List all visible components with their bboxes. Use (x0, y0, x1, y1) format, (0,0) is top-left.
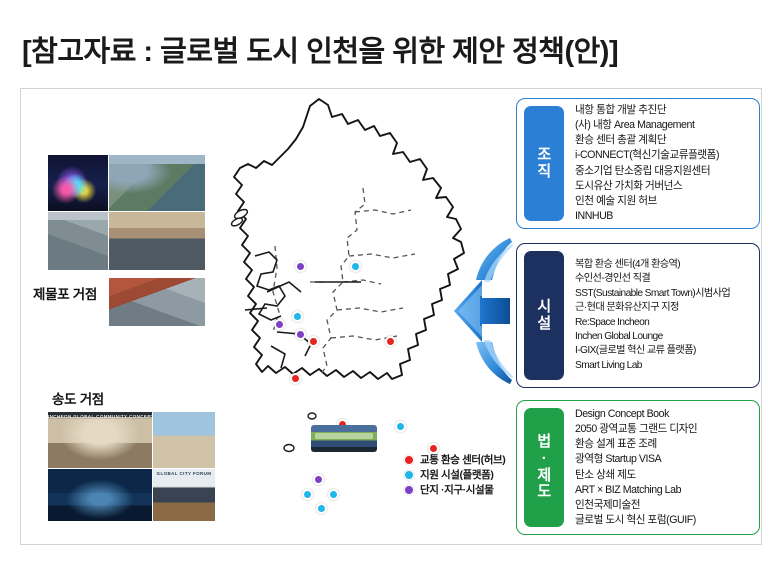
list-item: 탄소 상쇄 제도 (575, 468, 751, 483)
legend-label: 지원 시설(플랫폼) (420, 467, 494, 482)
photo-port-tower (109, 212, 205, 270)
list-item: 내항 통합 개발 추진단 (575, 103, 751, 118)
tab-char: 도 (537, 484, 550, 501)
photo-global-forum: GLOBAL CITY FORUM (153, 469, 215, 521)
list-item: 글로벌 도시 혁신 포럼(GUIF) (575, 513, 751, 528)
map-marker-purple[interactable] (295, 329, 306, 340)
slide-root: [참고자료 : 글로벌 도시 인천을 위한 제안 정책(안)] 제물포 거점 I… (0, 0, 779, 568)
tab-char: 설 (537, 316, 550, 333)
photo-beach-festival (153, 412, 215, 468)
list-item: (사) 내항 Area Management (575, 118, 751, 133)
list-item: 인천 예술 지원 허브 (575, 194, 751, 209)
list-item: Design Concept Book (575, 407, 751, 422)
map-marker-purple[interactable] (313, 474, 324, 485)
tab-char: 시 (537, 299, 550, 316)
category-list-law-system: Design Concept Book 2050 광역교통 그랜드 디자인 환승… (564, 408, 751, 527)
list-item: I-GIX(글로벌 혁신 교류 플랫폼) (575, 344, 751, 358)
list-item: SST(Sustainable Smart Town)시범사업 (575, 287, 751, 301)
legend-dot-purple-icon (404, 485, 414, 495)
map-marker-cyan[interactable] (316, 503, 327, 514)
bus-photo (311, 425, 377, 452)
list-item: INNHUB (575, 209, 751, 224)
tab-char: 법 (537, 434, 550, 451)
legend-row: 단지 ·지구·시설물 (404, 482, 505, 497)
list-item: 환승 센터 총괄 계획단 (575, 133, 751, 148)
photo-night-train (48, 469, 152, 521)
map-marker-cyan[interactable] (302, 489, 313, 500)
list-item: ART × BIZ Matching Lab (575, 483, 751, 498)
map-marker-purple[interactable] (295, 261, 306, 272)
list-item: Smart Living Lab (575, 359, 751, 373)
legend-label: 교통 환승 센터(허브) (420, 452, 505, 467)
category-list-organization: 내항 통합 개발 추진단 (사) 내항 Area Management 환승 센… (564, 106, 751, 221)
cluster-label-songdo: 송도 거점 (52, 388, 104, 408)
map-marker-cyan[interactable] (328, 489, 339, 500)
tab-char: 조 (537, 147, 550, 164)
map-marker-red[interactable] (290, 373, 301, 384)
list-item: Inchen Global Lounge (575, 330, 751, 344)
list-item: 도시유산 가치화 거버넌스 (575, 179, 751, 194)
list-item: 근·현대 문화유산지구 지정 (575, 301, 751, 315)
list-item: Re:Space Incheon (575, 316, 751, 330)
map-marker-red[interactable] (308, 336, 319, 347)
photo-media-art-stage (48, 155, 108, 211)
category-tab-facility: 시 설 (524, 251, 564, 380)
legend-dot-red-icon (404, 455, 414, 465)
page-title: [참고자료 : 글로벌 도시 인천을 위한 제안 정책(안)] (22, 28, 618, 70)
map-marker-red[interactable] (385, 336, 396, 347)
tab-char: · (542, 451, 547, 468)
photo-caption-forum: GLOBAL CITY FORUM (153, 471, 215, 476)
left-pointing-arrow (452, 236, 514, 391)
map-legend: 교통 환승 센터(허브)지원 시설(플랫폼)단지 ·지구·시설물 (404, 452, 505, 497)
legend-row: 지원 시설(플랫폼) (404, 467, 505, 482)
legend-dot-cyan-icon (404, 470, 414, 480)
list-item: 광역형 Startup VISA (575, 452, 751, 467)
legend-row: 교통 환승 센터(허브) (404, 452, 505, 467)
category-tab-organization: 조 직 (524, 106, 564, 221)
photo-concept-lounge: INCHEON GLOBAL COMMUNITY CONCEPT (48, 412, 152, 468)
map-marker-cyan[interactable] (292, 311, 303, 322)
photo-city-block-render (48, 212, 108, 270)
map-marker-cyan[interactable] (395, 421, 406, 432)
category-tab-law-system: 법 · 제 도 (524, 408, 564, 527)
tab-char: 직 (537, 164, 550, 181)
category-box-facility[interactable]: 시 설 복합 환승 센터(4개 환승역) 수인선-경인선 직결 SST(Sust… (516, 243, 760, 388)
category-list-facility: 복합 환승 센터(4개 환승역) 수인선-경인선 직결 SST(Sustaina… (564, 251, 751, 380)
map-marker-cyan[interactable] (350, 261, 361, 272)
list-item: 인천국제미술전 (575, 498, 751, 513)
list-item: 환승 설계 표준 조례 (575, 437, 751, 452)
category-box-organization[interactable]: 조 직 내항 통합 개발 추진단 (사) 내항 Area Management … (516, 98, 760, 229)
list-item: i-CONNECT(혁신기술교류플랫폼) (575, 148, 751, 163)
photo-coastal-city (109, 155, 205, 211)
map-marker-purple[interactable] (274, 319, 285, 330)
photo-red-brick-area (109, 278, 205, 326)
legend-label: 단지 ·지구·시설물 (420, 482, 494, 497)
photo-caption-lounge: INCHEON GLOBAL COMMUNITY CONCEPT (48, 414, 152, 419)
category-box-law-system[interactable]: 법 · 제 도 Design Concept Book 2050 광역교통 그랜… (516, 400, 760, 535)
cluster-label-jemulpo: 제물포 거점 (33, 283, 97, 303)
tab-char: 제 (537, 468, 550, 485)
list-item: 2050 광역교통 그랜드 디자인 (575, 422, 751, 437)
list-item: 수인선-경인선 직결 (575, 272, 751, 286)
list-item: 중소기업 탄소중립 대응지원센터 (575, 164, 751, 179)
list-item: 복합 환승 센터(4개 환승역) (575, 258, 751, 272)
